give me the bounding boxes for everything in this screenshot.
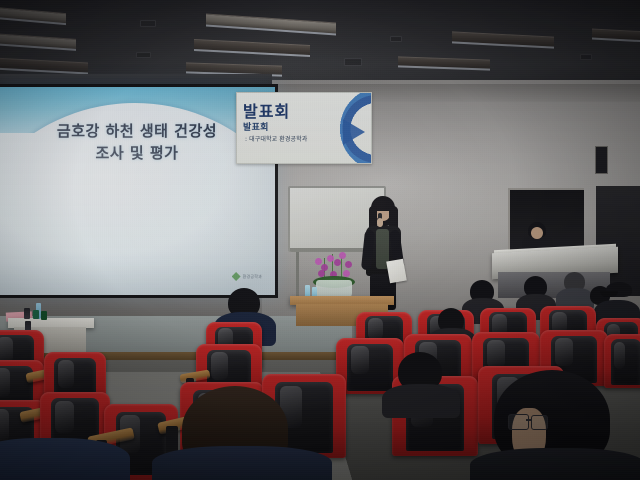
- cup: [33, 310, 39, 319]
- banner-arrow-icon: [343, 119, 365, 145]
- orchid-bloom: [334, 259, 341, 266]
- audience-shoulders: [382, 384, 460, 418]
- audience-shoulders: [0, 438, 130, 480]
- orchid-bloom: [345, 261, 352, 268]
- audience-shoulders: [470, 448, 640, 480]
- banner-organization: : 대구대학교 환경공학과: [245, 134, 307, 143]
- orchid-bloom: [327, 255, 334, 262]
- presenter: [360, 196, 406, 310]
- wall-mounted-device: [595, 146, 608, 174]
- eyeglasses-bridge: [526, 419, 532, 421]
- operator-face: [531, 227, 543, 239]
- event-banner: 발표회 발표회 : 대구대학교 환경공학과: [236, 92, 372, 164]
- presentation-notes: [386, 259, 407, 284]
- orchid-bloom: [315, 258, 322, 265]
- projected-slide: 금호강 하천 생태 건강성 조사 및 평가 환경공학과: [0, 87, 275, 295]
- whiteboard-leg: [296, 252, 299, 296]
- slide-title-block: 금호강 하천 생태 건강성 조사 및 평가: [0, 121, 275, 165]
- eyeglasses-left-lens: [508, 414, 529, 430]
- presenter-hand: [377, 218, 383, 227]
- slide-title-line-1: 금호강 하천 생태 건강성: [0, 121, 275, 143]
- slide-department-logo: 환경공학과: [232, 272, 262, 281]
- banner-subtitle: 발표회: [243, 120, 269, 133]
- slide-title-line-2: 조사 및 평가: [0, 143, 275, 165]
- cup: [41, 311, 47, 320]
- seminar-photo: 금호강 하천 생태 건강성 조사 및 평가 환경공학과 발표회 발표회 : 대구…: [0, 0, 640, 480]
- auditorium-seat[interactable]: [604, 334, 640, 388]
- banner-title: 발표회: [243, 98, 290, 122]
- eyeglasses-right-lens: [531, 415, 548, 430]
- slide-logo-text: 환경공학과: [243, 274, 262, 280]
- audience-shoulders: [152, 446, 332, 480]
- orchid-bloom: [339, 252, 346, 259]
- beverage-can: [24, 308, 30, 319]
- logo-diamond-icon: [232, 272, 241, 281]
